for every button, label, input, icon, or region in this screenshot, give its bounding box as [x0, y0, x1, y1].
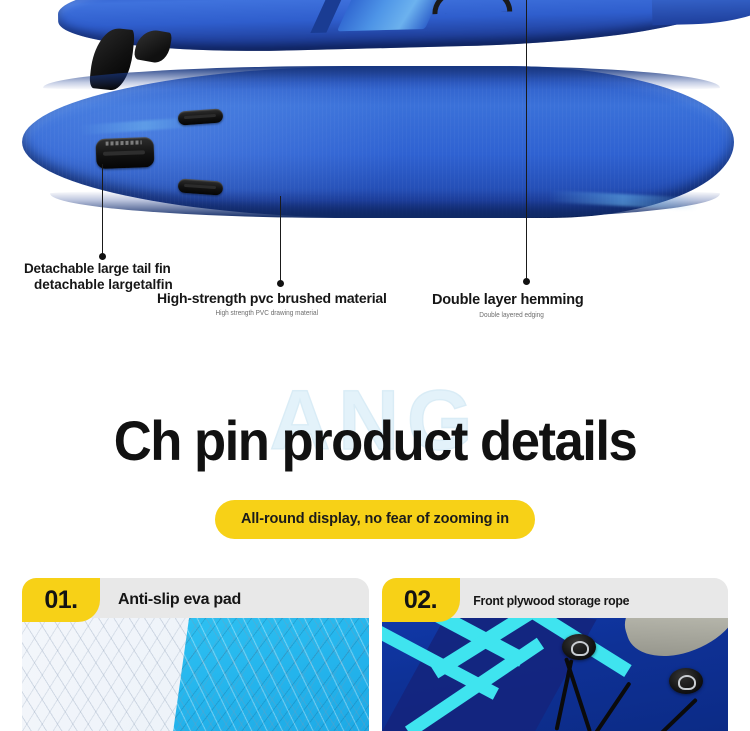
headline-section: ANG Ch pin product details All-round dis… [0, 360, 750, 555]
leader-line-tail-fin [102, 164, 103, 256]
feature-card-eva-pad[interactable]: 01. Anti-slip eva pad [22, 578, 369, 731]
callout-double-hemming-title: Double layer hemming [432, 292, 584, 308]
feature-card-number: 02. [382, 578, 460, 622]
callout-pvc-material-title: High-strength pvc brushed material [157, 290, 387, 306]
board-edge-top [43, 66, 719, 90]
subtitle-badge: All-round display, no fear of zooming in [215, 500, 535, 539]
leader-line-pvc-material [280, 196, 281, 283]
callout-pvc-material-subtitle: High strength PVC drawing material [157, 308, 355, 317]
feature-card-title: Front plywood storage rope [460, 593, 629, 608]
feature-card-header: 02. Front plywood storage rope [382, 578, 729, 622]
leader-line-double-hemming [526, 0, 527, 281]
deck-surface [382, 618, 729, 731]
deck-rail-edge [616, 618, 728, 668]
bungee-cord [564, 658, 592, 731]
feature-card-storage-rope[interactable]: 02. Front plywood storage rope [382, 578, 729, 731]
bungee-cord [652, 698, 698, 731]
bungee-cord [593, 681, 632, 731]
board-side-stripe-accent [337, 0, 447, 32]
feature-card-header: 01. Anti-slip eva pad [22, 578, 369, 622]
callout-pvc-material: High-strength pvc brushed material High … [157, 290, 387, 317]
leader-dot-tail-fin [99, 253, 106, 260]
callout-tail-fin-subtitle: detachable largetalfin [24, 277, 173, 293]
board-side-nose [651, 0, 750, 25]
callout-tail-fin-title: Detachable large tail fin [24, 261, 173, 277]
center-fin-box [95, 137, 154, 169]
leader-dot-double-hemming [523, 278, 530, 285]
storage-rope-photo [382, 618, 729, 731]
eva-pad-photo [22, 618, 369, 731]
board-bottom-view [22, 66, 734, 218]
eva-pad-cyan-grooves [170, 618, 368, 731]
leader-dot-pvc-material [277, 280, 284, 287]
d-ring-mount [562, 634, 596, 660]
callout-double-hemming-subtitle: Double layered edging [432, 310, 562, 319]
fin-box-marking [106, 140, 142, 145]
feature-card-list: 01. Anti-slip eva pad 02. Front plywood … [0, 578, 750, 731]
d-ring-mount [669, 668, 703, 694]
product-detail-page: Detachable large tail fin detachable lar… [0, 0, 750, 731]
callout-double-hemming: Double layer hemming Double layered edgi… [432, 292, 584, 319]
feature-card-title: Anti-slip eva pad [100, 591, 241, 609]
feature-card-number: 01. [22, 578, 100, 622]
callout-tail-fin: Detachable large tail fin detachable lar… [24, 261, 173, 293]
page-title: Ch pin product details [23, 408, 728, 473]
